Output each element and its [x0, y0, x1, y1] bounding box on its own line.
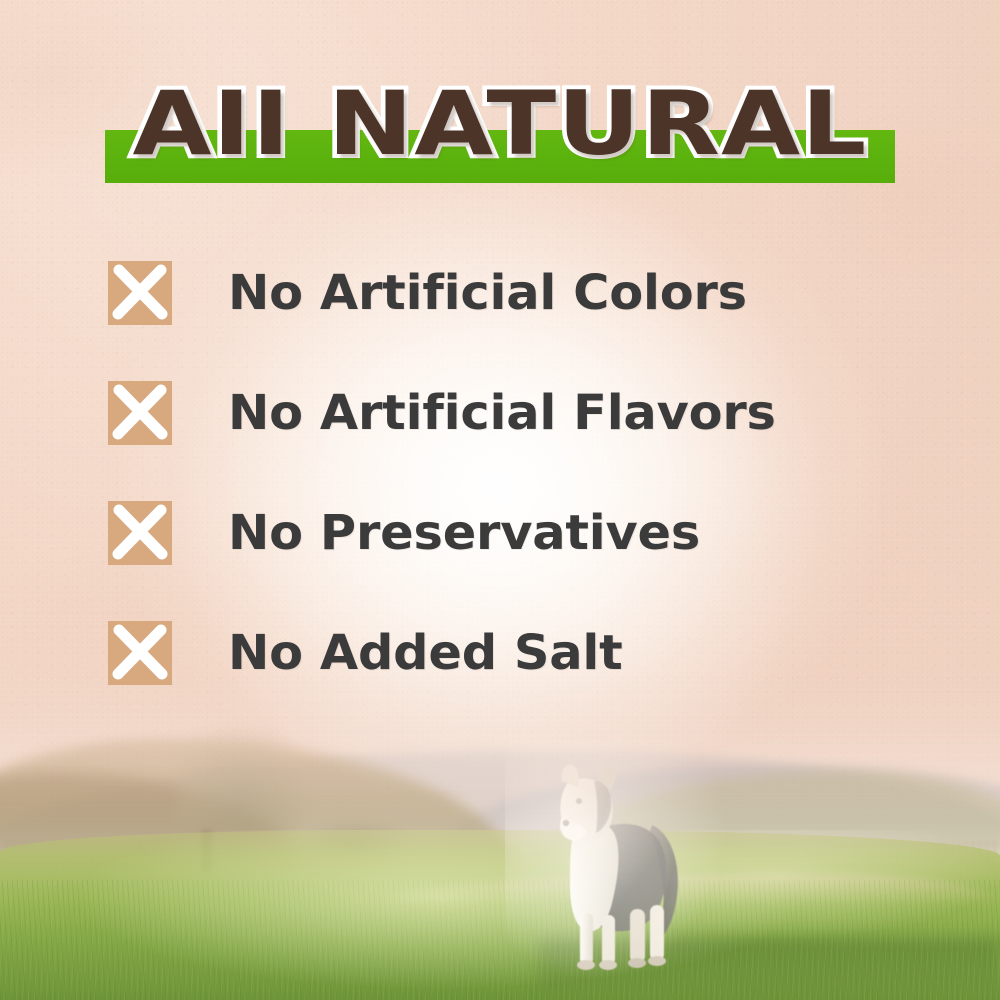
list-item-label: No Artificial Flavors: [228, 381, 776, 445]
poster-content: AII NATURAL No Artificial Colors: [0, 0, 1000, 1000]
list-item-label: No Preservatives: [228, 501, 700, 565]
x-mark-icon: [108, 381, 172, 445]
list-item: No Added Salt: [108, 618, 760, 688]
list-item-label: No Added Salt: [228, 621, 623, 685]
list-item-label: No Artificial Colors: [228, 261, 747, 325]
list-item: No Artificial Colors: [108, 258, 760, 328]
x-mark-icon: [108, 621, 172, 685]
x-mark-icon: [108, 501, 172, 565]
product-feature-poster: AII NATURAL No Artificial Colors: [0, 0, 1000, 1000]
list-item: No Artificial Flavors: [108, 378, 760, 448]
list-item: No Preservatives: [108, 498, 760, 568]
banner: AII NATURAL: [0, 72, 1000, 192]
x-mark-icon: [108, 261, 172, 325]
claims-list: No Artificial Colors No Artificial Flavo…: [108, 258, 760, 738]
page-title: AII NATURAL: [0, 72, 1000, 176]
